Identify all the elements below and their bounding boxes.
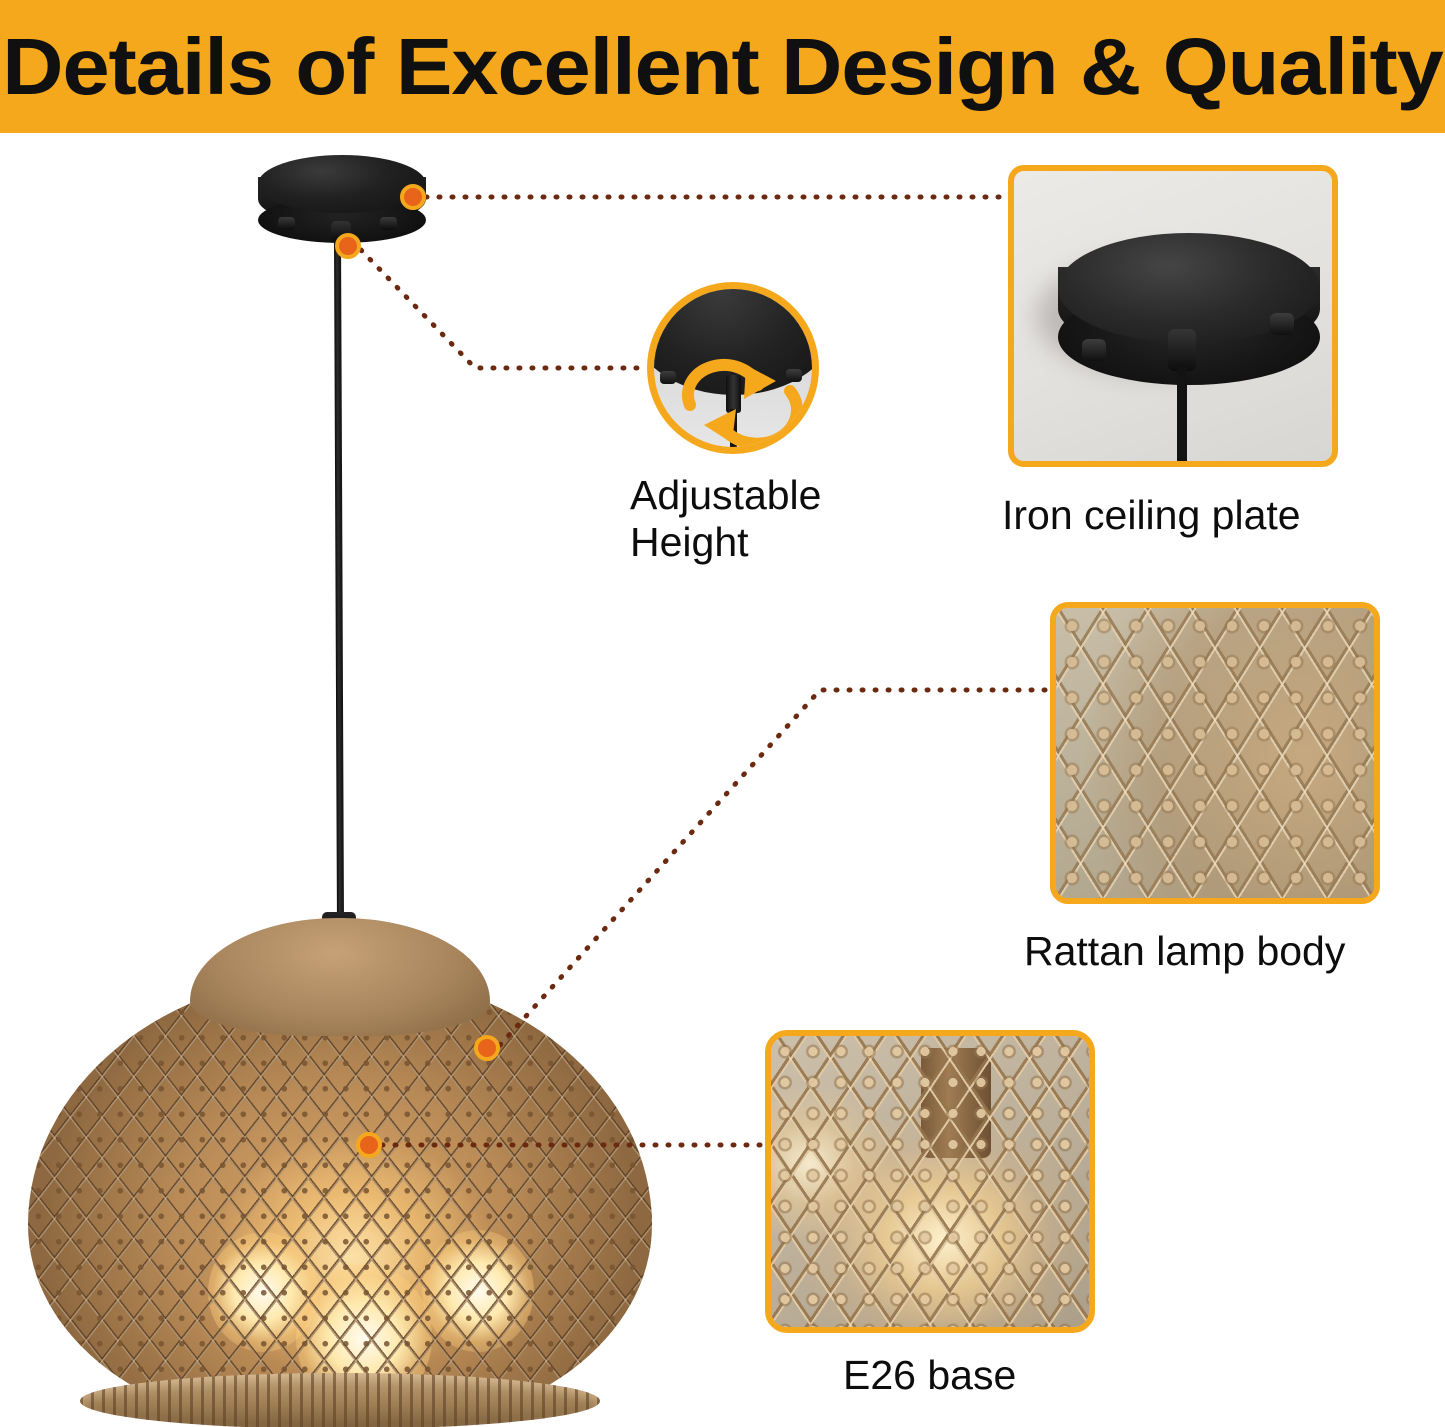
connector-adjustable-height	[361, 250, 648, 368]
plate-photo-screw-left	[1082, 339, 1106, 361]
caption-e26-base: E26 base	[843, 1352, 1016, 1399]
plate-photo-cord-nut	[1168, 329, 1196, 371]
callout-rattan-lamp-body[interactable]	[1050, 602, 1380, 904]
ceiling-plate-screw-left	[278, 217, 295, 230]
infographic-page: Details of Excellent Design & Quality	[0, 0, 1445, 1427]
shade-rim-weave	[80, 1373, 600, 1427]
shade-dome	[28, 974, 652, 1427]
rattan-photo-knots	[1056, 608, 1374, 898]
plate-photo-cord	[1177, 367, 1187, 467]
callout-adjustable-height[interactable]	[647, 282, 819, 454]
marker-ceiling-plate[interactable]	[400, 184, 426, 210]
marker-rattan-body[interactable]	[474, 1035, 500, 1061]
marker-e26-base[interactable]	[356, 1132, 382, 1158]
hanging-cord	[334, 240, 344, 930]
callout-iron-ceiling-plate[interactable]	[1008, 165, 1338, 467]
ceiling-plate-top	[258, 155, 426, 213]
marker-adjustable-height[interactable]	[335, 233, 361, 259]
caption-adjustable-height: Adjustable Height	[630, 472, 821, 566]
rattan-lamp-shade	[28, 918, 652, 1427]
rotate-arrows-icon	[672, 347, 808, 453]
ceiling-plate-screw-right	[380, 217, 397, 230]
page-title: Details of Excellent Design & Quality	[0, 0, 1445, 133]
bulb-glow-right	[422, 1230, 534, 1352]
caption-rattan-lamp-body: Rattan lamp body	[1024, 928, 1345, 975]
header-banner: Details of Excellent Design & Quality	[0, 0, 1445, 133]
caption-iron-ceiling-plate: Iron ceiling plate	[1002, 492, 1301, 539]
shade-top-cap	[190, 918, 490, 1036]
callout-e26-base[interactable]	[765, 1030, 1095, 1333]
shade-bottom-rim	[80, 1373, 600, 1427]
plate-photo-screw-right	[1270, 313, 1294, 335]
e26-photo-knots	[771, 1036, 1089, 1327]
